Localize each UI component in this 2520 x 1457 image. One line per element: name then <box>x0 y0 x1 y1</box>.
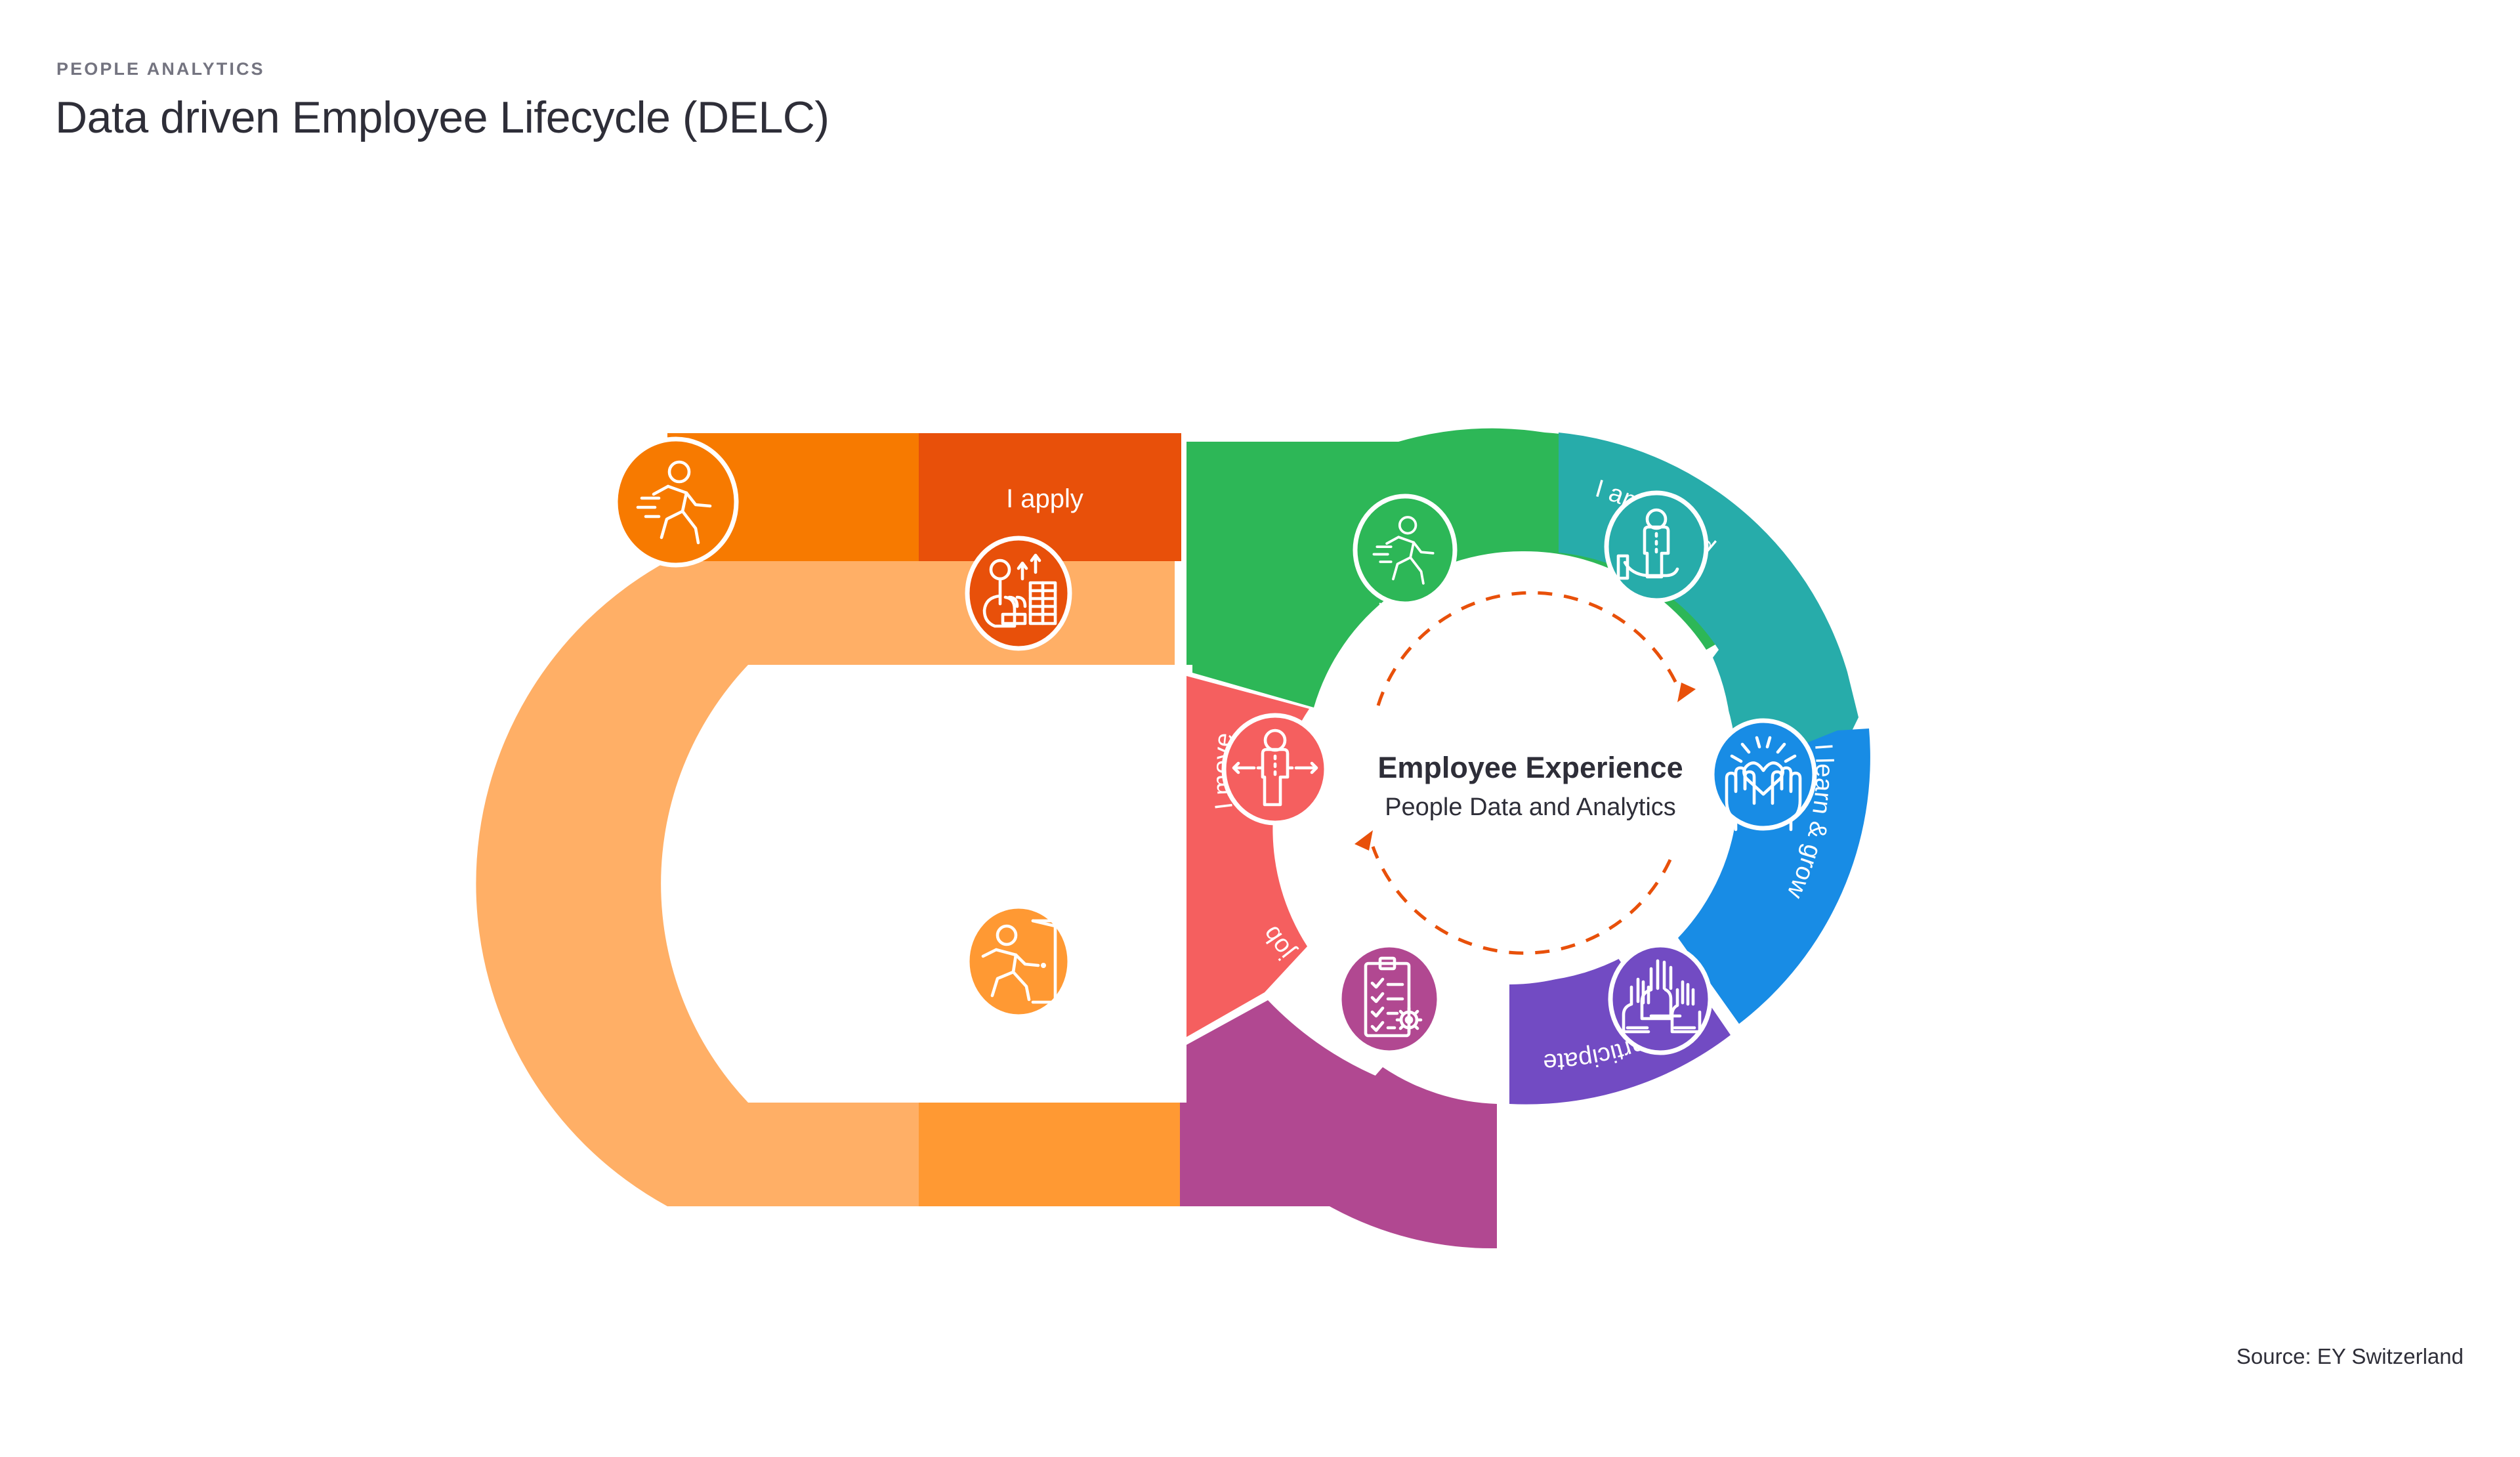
delc-diagram: I start I am valued I learn & grow I par… <box>0 0 2520 1457</box>
segment-i-do-my-job[interactable] <box>1180 1000 1497 1248</box>
badge-job[interactable] <box>1339 945 1439 1053</box>
badge-leave[interactable] <box>967 906 1070 1017</box>
bar-leave-dark[interactable] <box>919 1103 1180 1206</box>
center-title: Employee Experience <box>1377 751 1683 784</box>
label-i-apply: I apply <box>1006 484 1083 513</box>
badge-valued[interactable] <box>1606 493 1706 601</box>
bar-apply-bevel <box>1175 433 1181 561</box>
bar-leave-light <box>667 1103 919 1206</box>
badge-apply-start[interactable] <box>616 439 736 565</box>
center-subtitle: People Data and Analytics <box>1385 793 1676 821</box>
badge-learn[interactable] <box>1712 721 1815 830</box>
label-i-leave: I leave <box>1006 1051 1083 1080</box>
badge-participate[interactable] <box>1610 945 1710 1053</box>
badge-apply[interactable] <box>967 538 1070 648</box>
badge-move[interactable] <box>1224 715 1326 823</box>
badge-start[interactable] <box>1355 496 1455 604</box>
